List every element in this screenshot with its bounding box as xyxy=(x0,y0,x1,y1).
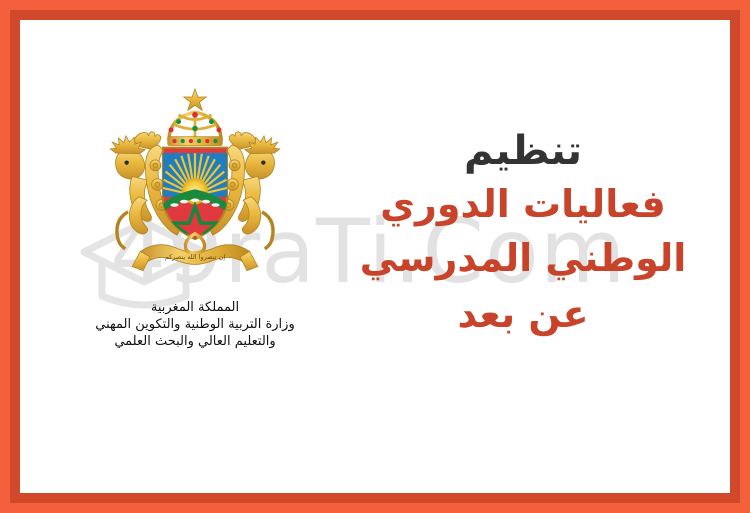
motto-text: إن تنصروا الله ينصركم xyxy=(165,253,226,261)
lion-left-eye xyxy=(124,160,128,164)
announcement-card: 49raTi.Com xyxy=(0,0,750,513)
ministry-line-2: وزارة التربية الوطنية والتكوين المهني xyxy=(40,316,350,333)
headline-line-1: فعاليات الدوري xyxy=(338,181,708,229)
lion-right-eye xyxy=(261,160,265,164)
ministry-line-1: المملكة المغربية xyxy=(40,299,350,316)
crown xyxy=(168,89,223,146)
headline-line-3: عن بعد xyxy=(338,291,708,339)
emblem-column: إن تنصروا الله ينصركم المملكة المغربية و… xyxy=(40,82,350,350)
headline-line-2: الوطني المدرسي xyxy=(338,235,708,283)
ministry-line-3: والتعليم العالي والبحث العلمي xyxy=(40,333,350,350)
headline-column: تنظيم فعاليات الدوري الوطني المدرسي عن ب… xyxy=(338,128,708,339)
coat-of-arms: إن تنصروا الله ينصركم xyxy=(90,82,300,287)
card-stage: 49raTi.Com xyxy=(20,20,730,493)
ministry-caption: المملكة المغربية وزارة التربية الوطنية و… xyxy=(40,299,350,350)
headline-kicker: تنظيم xyxy=(338,128,708,175)
moroccan-coat-of-arms-icon: إن تنصروا الله ينصركم xyxy=(90,82,300,287)
